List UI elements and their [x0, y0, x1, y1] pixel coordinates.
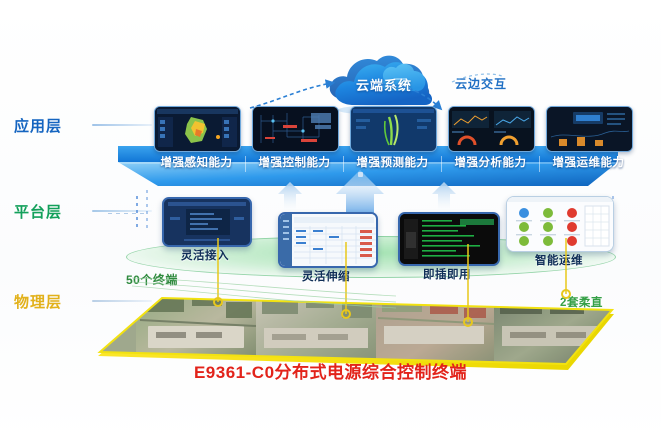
platform-dashed-line-2	[146, 190, 148, 232]
layer-label-platform: 平台层	[14, 201, 62, 222]
architecture-diagram: 应用层 平台层 物理层	[0, 0, 661, 444]
platform-device-plug-and-play[interactable]	[398, 212, 500, 266]
app-screen-ops[interactable]	[546, 106, 633, 152]
layer-rule-platform	[92, 210, 152, 212]
platform-label-smart-ops: 智能运维	[504, 252, 614, 268]
layer-label-application: 应用层	[14, 115, 62, 136]
app-screen-control[interactable]	[252, 106, 339, 152]
app-screen-perception[interactable]	[154, 106, 241, 152]
platform-device-flexible-scaling[interactable]	[278, 212, 378, 268]
platform-device-smart-ops[interactable]	[506, 196, 614, 252]
app-separator-1	[245, 156, 246, 172]
app-separator-4	[539, 156, 540, 172]
app-screen-forecast[interactable]	[350, 106, 437, 152]
application-layer-items: 增强感知能力 增强控制能力	[150, 106, 650, 152]
platform-label-flexible-scaling: 灵活伸缩	[276, 268, 376, 284]
cloud-dashed-arrows	[240, 52, 540, 114]
physical-note-terminals: 50个终端	[126, 271, 178, 288]
app-screen-analysis[interactable]	[448, 106, 535, 152]
platform-label-flexible-access: 灵活接入	[160, 247, 250, 263]
app-label-ops: 增强运维能力	[541, 154, 636, 170]
app-label-perception: 增强感知能力	[149, 154, 244, 170]
platform-label-plug-and-play: 即插即用	[396, 266, 498, 282]
layer-label-physical: 物理层	[14, 291, 62, 312]
platform-dashed-line-3	[108, 213, 148, 214]
bottom-title: E9361-C0分布式电源综合控制终端	[0, 358, 661, 383]
platform-device-flexible-access[interactable]	[162, 197, 252, 247]
layer-rule-application	[92, 124, 152, 126]
